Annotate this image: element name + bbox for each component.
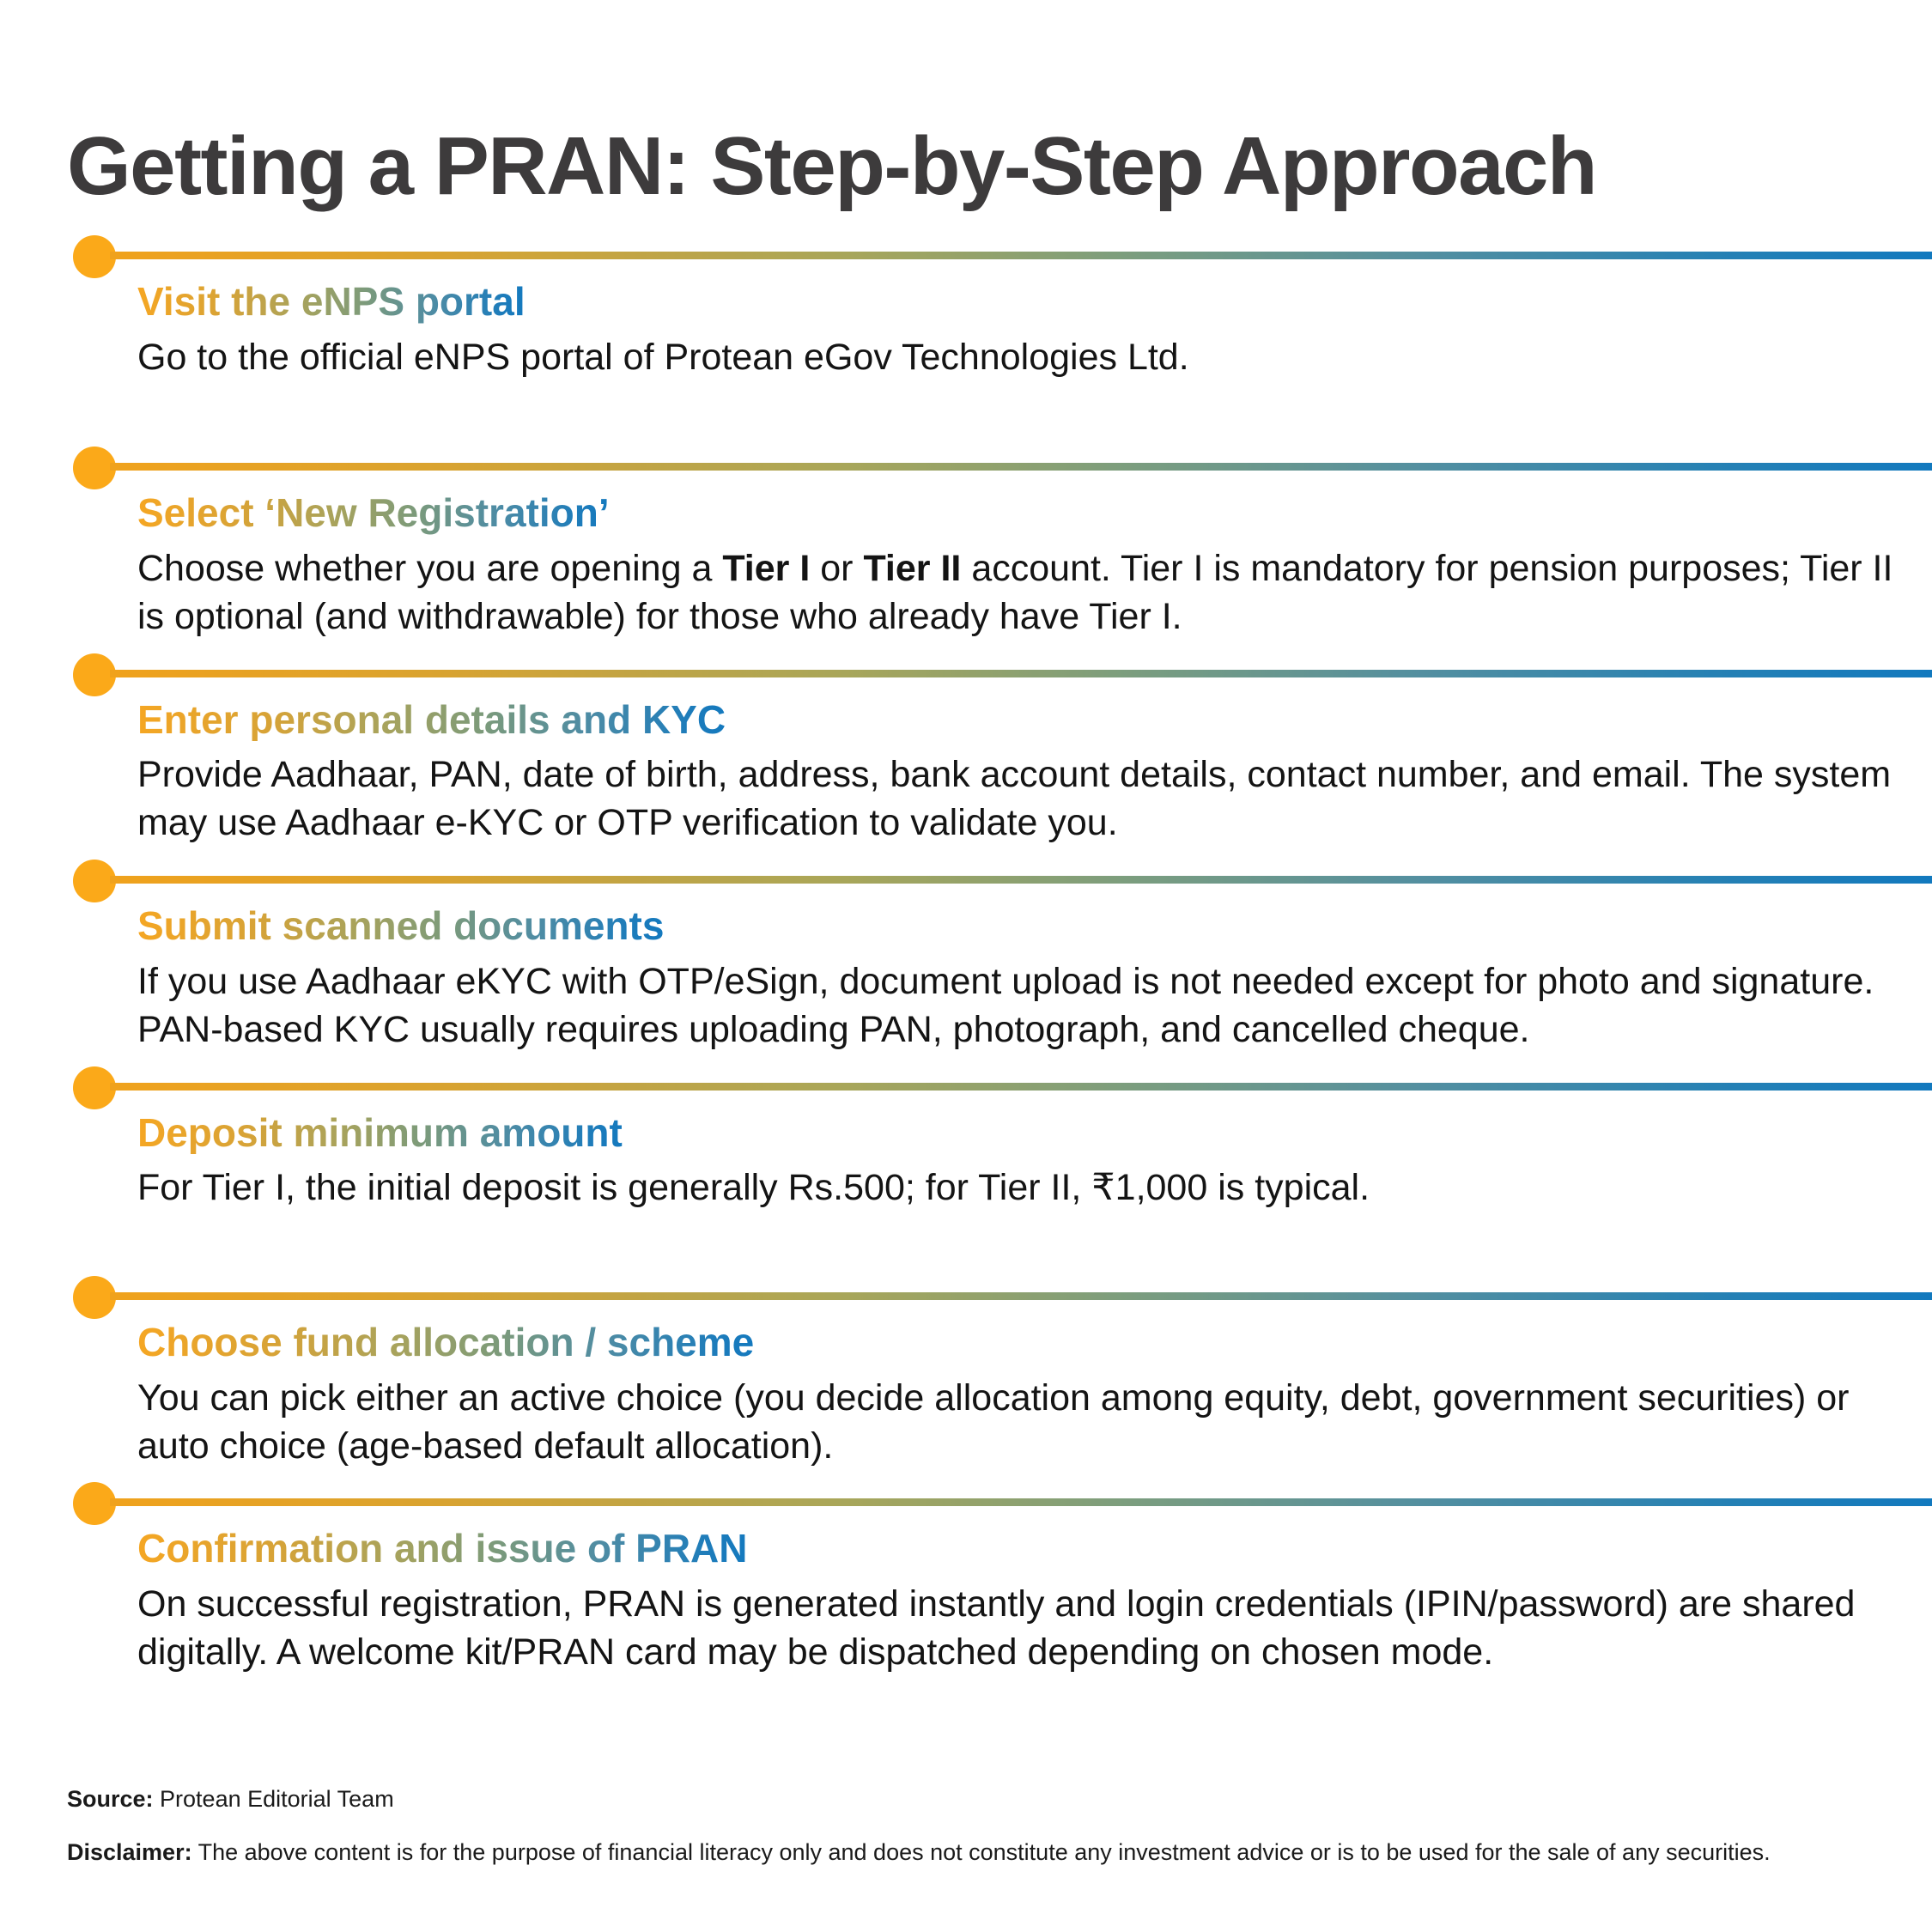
step-divider-line [110, 1083, 1932, 1091]
step-item: Visit the eNPS portal Go to the official… [0, 223, 1932, 381]
step-divider-line [110, 876, 1932, 884]
step-heading: Confirmation and issue of PRAN [137, 1527, 747, 1571]
step-description: If you use Aadhaar eKYC with OTP/eSign, … [137, 958, 1898, 1054]
step-connector [0, 848, 1932, 892]
step-item: Select ‘New Registration’ Choose whether… [0, 434, 1932, 641]
steps-list: Visit the eNPS portal Go to the official… [0, 223, 1932, 1677]
disclaimer-label: Disclaimer: [67, 1839, 192, 1865]
step-connector [0, 641, 1932, 686]
step-heading: Submit scanned documents [137, 904, 664, 948]
infographic-page: Getting a PRAN: Step-by-Step Approach Vi… [0, 0, 1932, 1932]
step-connector [0, 1054, 1932, 1099]
step-content: Deposit minimum amount For Tier I, the i… [0, 1099, 1932, 1212]
step-divider-line [110, 670, 1932, 677]
step-content: Choose fund allocation / scheme You can … [0, 1309, 1932, 1470]
step-content: Confirmation and issue of PRAN On succes… [0, 1515, 1932, 1676]
step-content: Visit the eNPS portal Go to the official… [0, 268, 1932, 381]
source-value: Protean Editorial Team [154, 1786, 394, 1812]
step-description: Choose whether you are opening a Tier I … [137, 545, 1898, 641]
step-item: Choose fund allocation / scheme You can … [0, 1264, 1932, 1470]
step-item: Enter personal details and KYC Provide A… [0, 641, 1932, 848]
source-label: Source: [67, 1786, 154, 1812]
step-description: Go to the official eNPS portal of Protea… [137, 334, 1898, 382]
step-text-bold-tier1: Tier I [722, 548, 810, 589]
step-item: Deposit minimum amount For Tier I, the i… [0, 1054, 1932, 1212]
source-line: Source: Protean Editorial Team [67, 1784, 1870, 1815]
step-heading: Select ‘New Registration’ [137, 491, 610, 535]
disclaimer-line: Disclaimer: The above content is for the… [67, 1838, 1870, 1868]
footer: Source: Protean Editorial Team Disclaime… [67, 1784, 1870, 1868]
step-content: Select ‘New Registration’ Choose whether… [0, 479, 1932, 641]
step-item: Submit scanned documents If you use Aadh… [0, 848, 1932, 1054]
step-connector [0, 223, 1932, 268]
step-divider-line [110, 1292, 1932, 1300]
step-heading: Visit the eNPS portal [137, 280, 526, 324]
step-description: On successful registration, PRAN is gene… [137, 1581, 1898, 1677]
step-connector [0, 1470, 1932, 1515]
page-title: Getting a PRAN: Step-by-Step Approach [67, 124, 1596, 210]
step-heading: Enter personal details and KYC [137, 698, 726, 742]
step-description: Provide Aadhaar, PAN, date of birth, add… [137, 751, 1898, 848]
step-description: You can pick either an active choice (yo… [137, 1375, 1898, 1471]
step-content: Enter personal details and KYC Provide A… [0, 686, 1932, 848]
step-content: Submit scanned documents If you use Aadh… [0, 892, 1932, 1054]
step-divider-line [110, 252, 1932, 259]
step-connector [0, 1264, 1932, 1309]
step-text-mid: or [810, 548, 863, 589]
step-text-pre: Choose whether you are opening a [137, 548, 722, 589]
step-heading: Deposit minimum amount [137, 1111, 623, 1155]
step-description: For Tier I, the initial deposit is gener… [137, 1164, 1898, 1212]
step-divider-line [110, 463, 1932, 471]
step-text-bold-tier2: Tier II [863, 548, 961, 589]
step-item: Confirmation and issue of PRAN On succes… [0, 1470, 1932, 1676]
step-divider-line [110, 1498, 1932, 1506]
step-heading: Choose fund allocation / scheme [137, 1321, 754, 1364]
disclaimer-value: The above content is for the purpose of … [192, 1839, 1771, 1865]
step-connector [0, 434, 1932, 479]
